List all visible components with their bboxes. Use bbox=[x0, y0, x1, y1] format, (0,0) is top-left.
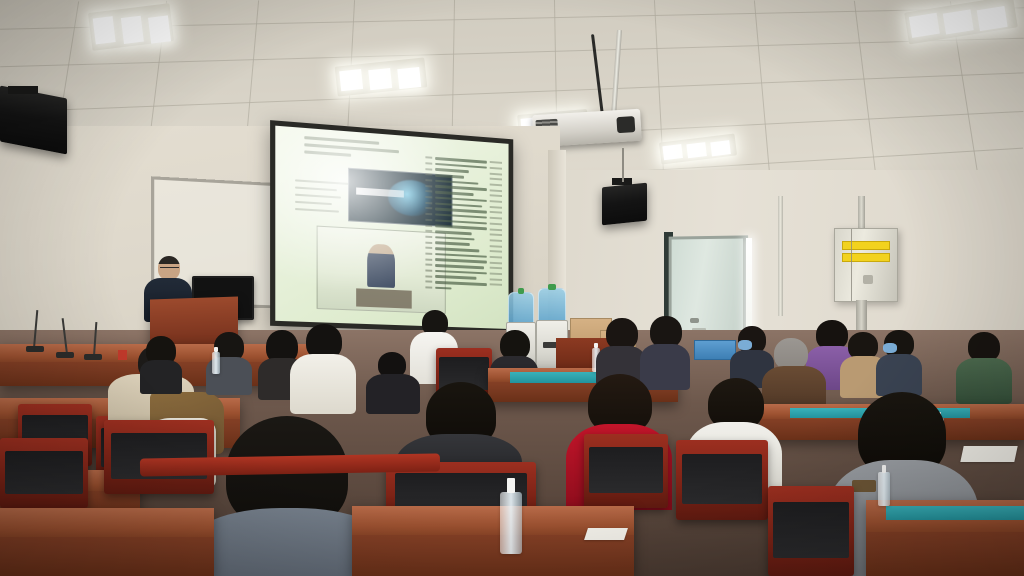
desk-foreground-center bbox=[352, 506, 634, 576]
attendee-black-hair-front-left bbox=[140, 336, 182, 388]
attendee-dark-hair-center-row bbox=[596, 318, 646, 382]
microphone-base-1 bbox=[26, 346, 44, 352]
attendee-patterned-top bbox=[640, 316, 690, 380]
panel-latch[interactable] bbox=[863, 275, 873, 284]
microphone-base-3 bbox=[84, 354, 102, 360]
electrical-distribution-box bbox=[834, 228, 898, 302]
paper-sheet-2 bbox=[584, 528, 628, 540]
water-jug-right bbox=[538, 288, 566, 324]
torso bbox=[140, 360, 182, 394]
desk-foreground-left bbox=[0, 508, 214, 576]
face-mask bbox=[883, 343, 897, 353]
wall-conduit-pipe bbox=[778, 196, 783, 316]
presenter-glasses bbox=[160, 267, 179, 271]
panel-door-seam bbox=[851, 229, 852, 301]
classroom-photo bbox=[0, 0, 1024, 576]
panel-conduit-upper bbox=[858, 196, 865, 230]
chair-foreground-right[interactable] bbox=[768, 486, 854, 576]
torso bbox=[290, 354, 356, 414]
chair-red-coat[interactable] bbox=[584, 434, 668, 508]
torso bbox=[876, 354, 922, 396]
wall-speaker-right bbox=[602, 183, 647, 226]
jacket-label-patch bbox=[852, 480, 876, 492]
attendee-blue-mask-far-right bbox=[876, 330, 922, 388]
attendee-green-jacket bbox=[956, 332, 1012, 394]
warning-sticker-upper bbox=[842, 241, 890, 250]
water-bottle-5 bbox=[878, 472, 890, 506]
chair-near-left[interactable] bbox=[0, 438, 88, 508]
projection-screen bbox=[270, 120, 513, 334]
attendee-white-jacket-mid bbox=[290, 324, 356, 408]
microphone-base-2 bbox=[56, 352, 74, 358]
water-bottle-foreground bbox=[500, 492, 522, 554]
face-mask bbox=[738, 340, 752, 350]
projection-screen-surface bbox=[275, 126, 508, 329]
speaker-right-wire bbox=[622, 148, 624, 182]
desk-pad-foreground-right bbox=[886, 506, 1024, 520]
door-handle[interactable] bbox=[690, 318, 699, 323]
water-jug-left bbox=[508, 292, 534, 326]
water-bottle-1 bbox=[212, 352, 220, 374]
chair-white-jacket[interactable] bbox=[676, 440, 768, 520]
screen-glare bbox=[275, 126, 508, 329]
speaker-left-mount bbox=[8, 86, 38, 94]
warning-sticker-lower bbox=[842, 253, 890, 262]
